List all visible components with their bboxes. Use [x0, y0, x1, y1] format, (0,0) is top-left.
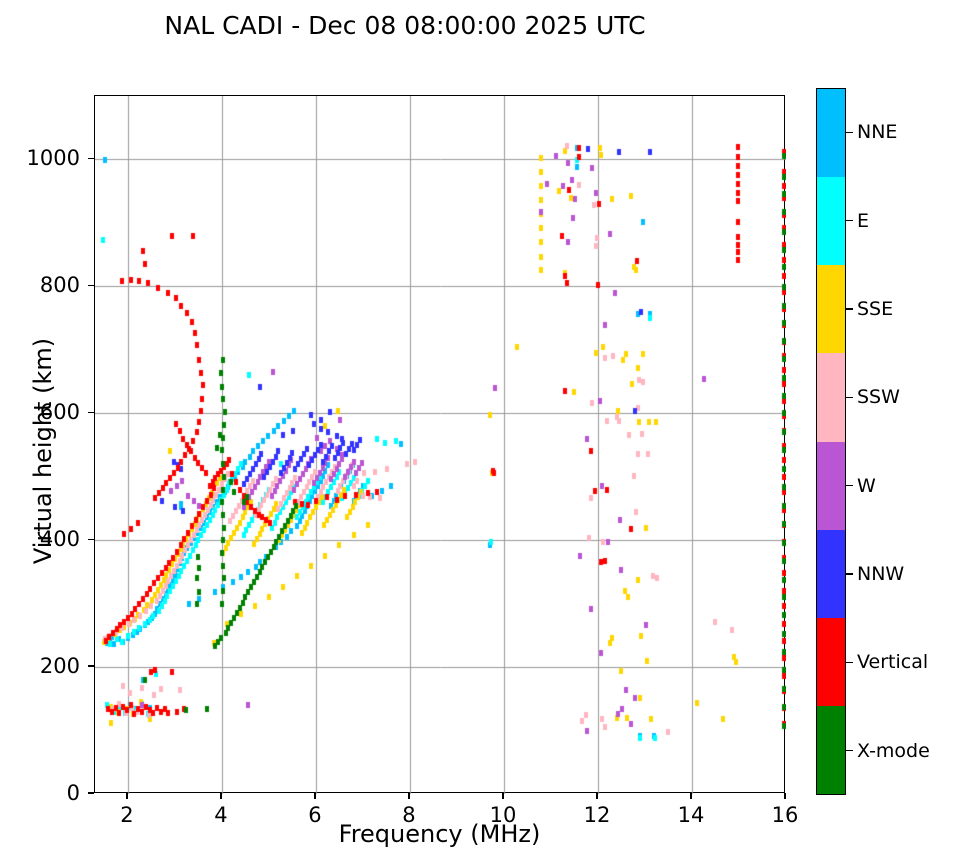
colorbar-label-ssw: SSW — [857, 386, 900, 408]
colorbar-tick — [846, 573, 853, 574]
colorbar-tick — [846, 308, 853, 309]
colorbar-label-nnw: NNW — [857, 563, 904, 585]
colorbar-tick — [846, 485, 853, 486]
colorbar-segment-nnw[interactable] — [817, 530, 845, 618]
colorbar-segment-nne[interactable] — [817, 89, 845, 177]
colorbar-segment-e[interactable] — [817, 177, 845, 265]
y-tick-mark — [88, 792, 94, 793]
colorbar-segment-ssw[interactable] — [817, 353, 845, 441]
colorbar-segment-w[interactable] — [817, 442, 845, 530]
x-tick-mark — [784, 793, 785, 799]
colorbar-label-w: W — [857, 475, 876, 497]
y-tick-mark — [88, 158, 94, 159]
colorbar-segment-x-mode[interactable] — [817, 706, 845, 794]
scatter-layer — [95, 96, 786, 794]
y-axis-title: Virtual height (km) — [29, 102, 57, 800]
x-tick-mark — [690, 793, 691, 799]
x-tick-mark — [502, 793, 503, 799]
y-tick-mark — [88, 285, 94, 286]
x-axis-title: Frequency (MHz) — [94, 820, 785, 848]
ionogram-figure: NAL CADI - Dec 08 08:00:00 2025 UTC 0200… — [0, 0, 958, 857]
colorbar-label-x-mode: X-mode — [857, 740, 930, 762]
colorbar-label-nne: NNE — [857, 121, 897, 143]
x-tick-mark — [126, 793, 127, 799]
colorbar-tick — [846, 662, 853, 663]
colorbar[interactable] — [816, 88, 846, 795]
colorbar-tick — [846, 220, 853, 221]
y-tick-mark — [88, 539, 94, 540]
x-tick-mark — [596, 793, 597, 799]
x-tick-mark — [408, 793, 409, 799]
colorbar-tick — [846, 397, 853, 398]
colorbar-label-e: E — [857, 210, 869, 232]
plot-area[interactable] — [94, 95, 785, 793]
x-tick-mark — [220, 793, 221, 799]
y-tick-mark — [88, 665, 94, 666]
page-title: NAL CADI - Dec 08 08:00:00 2025 UTC — [0, 11, 810, 40]
colorbar-segment-vertical[interactable] — [817, 618, 845, 706]
y-tick-mark — [88, 412, 94, 413]
colorbar-segment-sse[interactable] — [817, 265, 845, 353]
colorbar-tick — [846, 750, 853, 751]
colorbar-label-sse: SSE — [857, 298, 893, 320]
x-tick-mark — [314, 793, 315, 799]
colorbar-label-vertical: Vertical — [857, 651, 928, 673]
colorbar-tick — [846, 132, 853, 133]
